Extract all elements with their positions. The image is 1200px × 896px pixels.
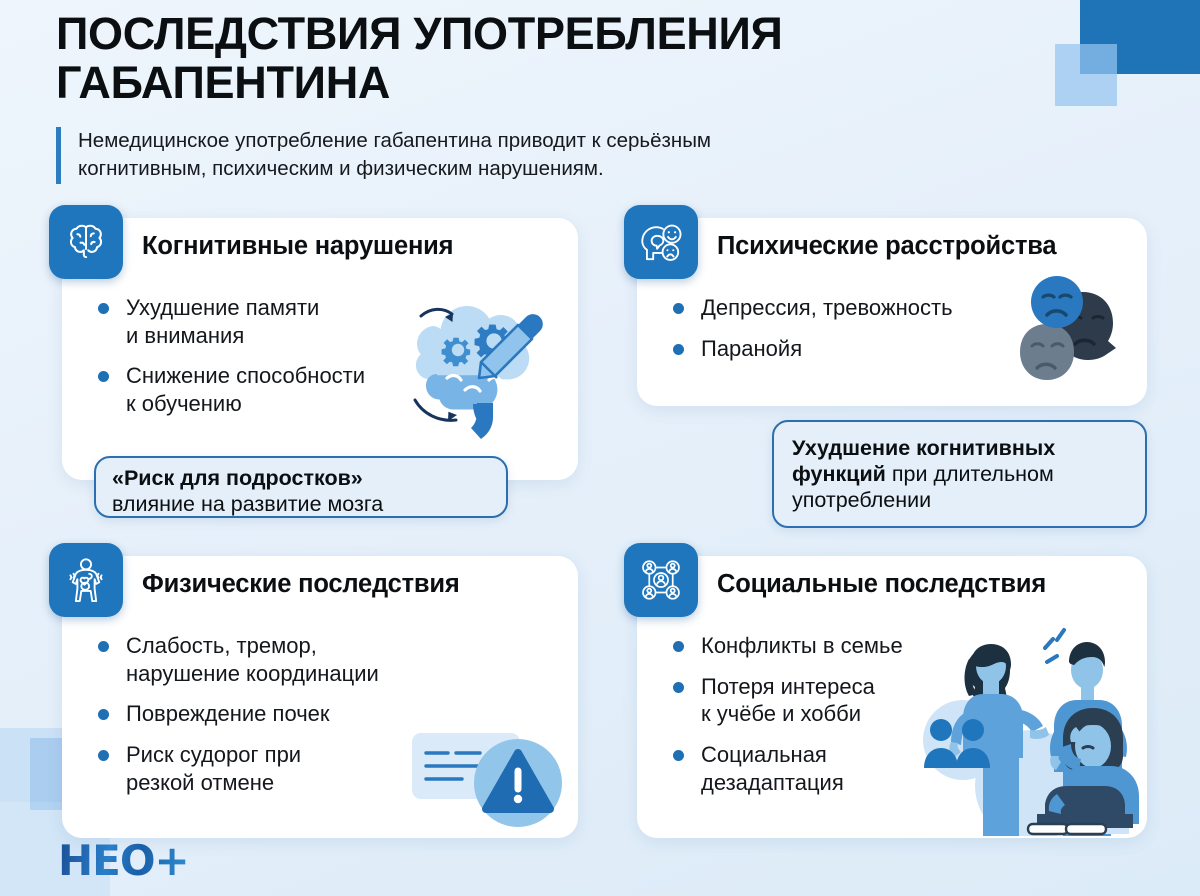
list-item: Потеря интереса к учёбе и хобби bbox=[673, 673, 903, 728]
brain-gears-illustration bbox=[377, 282, 572, 447]
callout-teen-risk: «Риск для подростков» влияние на развити… bbox=[94, 456, 508, 518]
card-title: Социальные последствия bbox=[717, 570, 1046, 599]
callout-longterm-use: Ухудшение когнитивных функций при длител… bbox=[772, 420, 1147, 528]
header: ПОСЛЕДСТВИЯ УПОТРЕБЛЕНИЯ ГАБАПЕНТИНА Нем… bbox=[56, 10, 1056, 184]
list-item: Депрессия, тревожность bbox=[673, 294, 953, 322]
bullet-list: Слабость, тремор, нарушение координации … bbox=[98, 632, 379, 810]
bullet-list: Ухудшение памяти и внимания Снижение спо… bbox=[98, 294, 365, 431]
subtitle-block: Немедицинское употребление габапентина п… bbox=[56, 127, 1056, 184]
list-item: Паранойя bbox=[673, 335, 953, 363]
card-physical-consequences: Физические последствия Слабость, тремор,… bbox=[62, 556, 578, 838]
head-emotions-icon bbox=[624, 205, 698, 279]
card-mental-disorders: Психические расстройства Депрессия, трев… bbox=[637, 218, 1147, 406]
list-item: Конфликты в семье bbox=[673, 632, 903, 660]
list-item: Повреждение почек bbox=[98, 700, 379, 728]
list-item: Риск судорог при резкой отмене bbox=[98, 741, 379, 796]
bullet-list: Конфликты в семье Потеря интереса к учёб… bbox=[673, 632, 903, 810]
card-title: Когнитивные нарушения bbox=[142, 232, 453, 261]
sad-masks-illustration bbox=[1005, 272, 1155, 400]
list-item: Слабость, тремор, нарушение координации bbox=[98, 632, 379, 687]
brain-icon bbox=[49, 205, 123, 279]
card-title: Физические последствия bbox=[142, 570, 460, 599]
callout-bold-text: «Риск для подростков» bbox=[112, 466, 363, 490]
list-item: Ухудшение памяти и внимания bbox=[98, 294, 365, 349]
decor-square-top-right-light bbox=[1055, 44, 1117, 106]
callout-line-bold: «Риск для подростков» bbox=[112, 465, 490, 491]
callout-text: Ухудшение когнитивных функций при длител… bbox=[792, 435, 1127, 514]
decor-square-bottom-left-a bbox=[0, 728, 70, 802]
callout-line-rest: влияние на развитие мозга bbox=[112, 491, 490, 517]
list-item: Социальная дезадаптация bbox=[673, 741, 903, 796]
bullet-list: Депрессия, тревожность Паранойя bbox=[673, 294, 953, 375]
warning-document-illustration bbox=[410, 721, 570, 831]
people-network-icon bbox=[624, 543, 698, 617]
decor-square-top-right-dark bbox=[1080, 0, 1200, 74]
card-cognitive-impairment: Когнитивные нарушения bbox=[62, 218, 578, 480]
family-conflict-illustration bbox=[911, 618, 1151, 836]
list-item: Снижение способности к обучению bbox=[98, 362, 365, 417]
card-title: Психические расстройства bbox=[717, 232, 1056, 261]
body-organs-icon bbox=[49, 543, 123, 617]
card-social-consequences: Социальные последствия bbox=[637, 556, 1147, 838]
brand-logo: НЕО+ bbox=[58, 840, 189, 882]
page-subtitle: Немедицинское употребление габапентина п… bbox=[78, 127, 1056, 184]
page-title: ПОСЛЕДСТВИЯ УПОТРЕБЛЕНИЯ ГАБАПЕНТИНА bbox=[56, 10, 1056, 107]
